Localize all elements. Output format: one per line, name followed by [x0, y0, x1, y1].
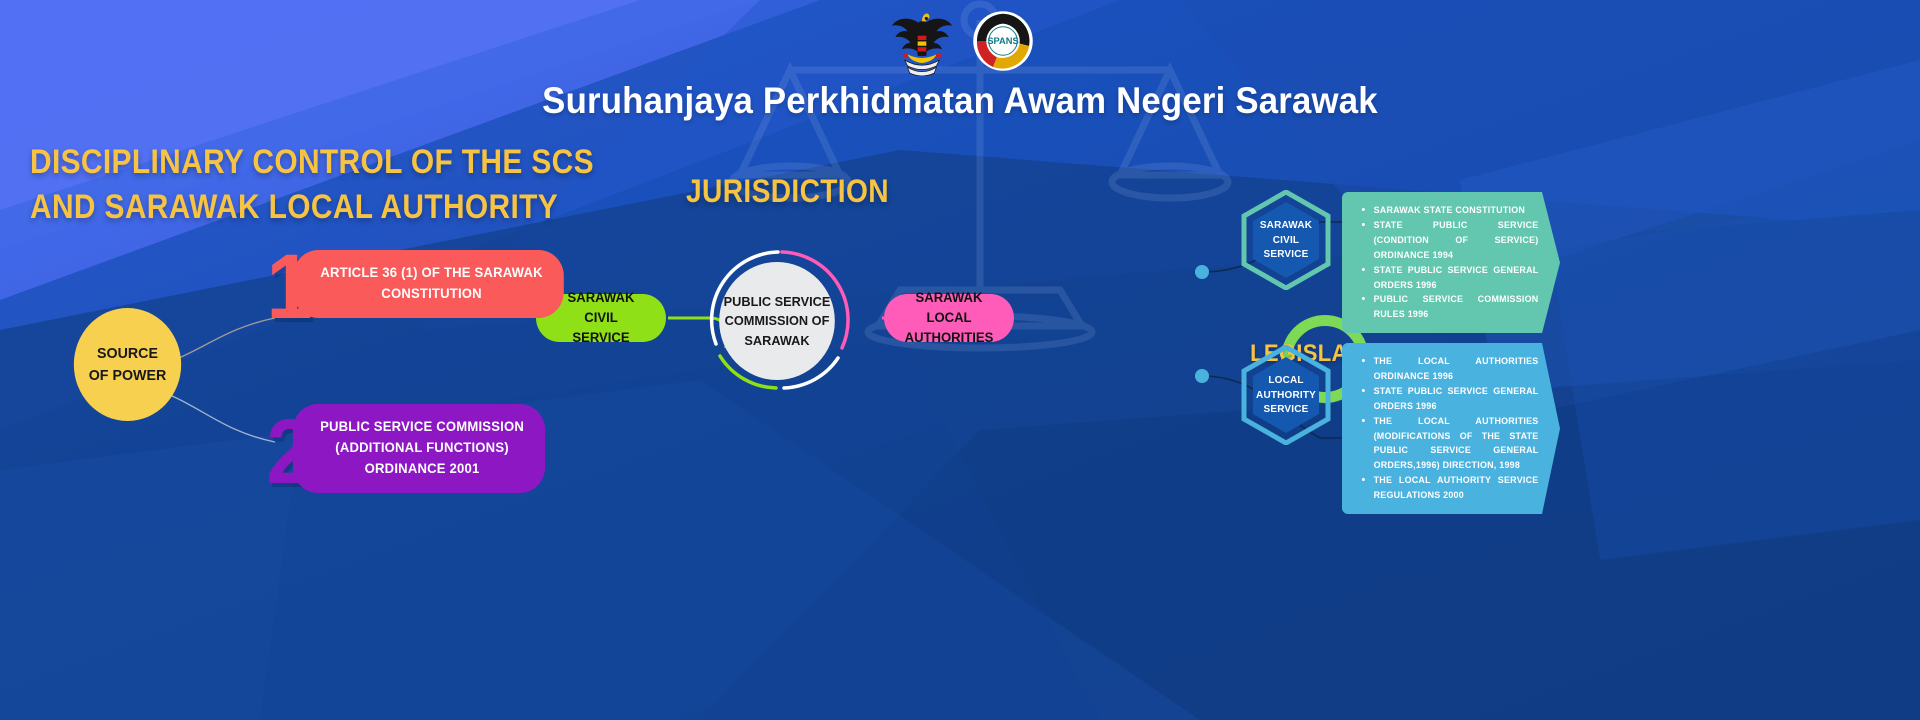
- source-item-1[interactable]: 1 ARTICLE 36 (1) OF THE SARAWAK CONSTITU…: [264, 248, 569, 320]
- legislation-item: STATE PUBLIC SERVICE GENERAL ORDERS 1996: [1360, 263, 1538, 293]
- legislation-hex-label-2: LOCAL AUTHORITY SERVICE: [1242, 345, 1329, 445]
- svg-text:SPANS: SPANS: [987, 36, 1018, 46]
- source-of-power-circle: SOURCE OF POWER: [74, 308, 181, 421]
- source-item-1-label: ARTICLE 36 (1) OF THE SARAWAK CONSTITUTI…: [293, 250, 564, 318]
- legislation-items-2: THE LOCAL AUTHORITIES ORDINANCE 1996 STA…: [1360, 354, 1544, 503]
- legislation-items-1: SARAWAK STATE CONSTITUTION STATE PUBLIC …: [1360, 203, 1544, 322]
- jurisdiction-core-label: PUBLIC SERVICE COMMISSION OF SARAWAK: [719, 262, 835, 380]
- legislation-item: STATE PUBLIC SERVICE (CONDITION OF SERVI…: [1360, 218, 1538, 263]
- legislation-item: THE LOCAL AUTHORITY SERVICE REGULATIONS …: [1360, 473, 1538, 503]
- logo-row: SPANS: [0, 0, 1920, 74]
- left-section-title: DISCIPLINARY CONTROL OF THE SCS AND SARA…: [30, 140, 594, 230]
- source-item-2[interactable]: 2 PUBLIC SERVICE COMMISSION (ADDITIONAL …: [264, 404, 549, 493]
- legislation-item: PUBLIC SERVICE COMMISSION RULES 1996: [1360, 292, 1538, 322]
- legislation-item: THE LOCAL AUTHORITIES (MODIFICATIONS OF …: [1360, 414, 1538, 474]
- legislation-hex-label-1: SARAWAK CIVIL SERVICE: [1242, 190, 1329, 290]
- legislation-hex-local-authority-service[interactable]: LOCAL AUTHORITY SERVICE: [1240, 345, 1332, 445]
- jurisdiction-tag-sarawak-local-authorities[interactable]: SARAWAK LOCAL AUTHORITIES: [884, 294, 1014, 342]
- page-header: SPANS Suruhanjaya Perkhidmatan Awam Nege…: [0, 0, 1920, 122]
- legislation-list-sarawak-civil-service: SARAWAK STATE CONSTITUTION STATE PUBLIC …: [1342, 192, 1560, 333]
- source-item-2-label: PUBLIC SERVICE COMMISSION (ADDITIONAL FU…: [293, 404, 545, 493]
- legislation-item: SARAWAK STATE CONSTITUTION: [1360, 203, 1538, 218]
- sarawak-state-crest-icon: [886, 4, 958, 76]
- spans-logo-icon: SPANS: [972, 10, 1034, 72]
- infographic-canvas: SPANS Suruhanjaya Perkhidmatan Awam Nege…: [0, 0, 1920, 720]
- legislation-list-local-authority-service: THE LOCAL AUTHORITIES ORDINANCE 1996 STA…: [1342, 343, 1560, 514]
- legislation-item: THE LOCAL AUTHORITIES ORDINANCE 1996: [1360, 354, 1538, 384]
- legislation-hex-sarawak-civil-service[interactable]: SARAWAK CIVIL SERVICE: [1240, 190, 1332, 290]
- legislation-item: STATE PUBLIC SERVICE GENERAL ORDERS 1996: [1360, 384, 1538, 414]
- jurisdiction-section-title: JURISDICTION: [686, 170, 889, 212]
- organisation-title: Suruhanjaya Perkhidmatan Awam Negeri Sar…: [58, 80, 1863, 122]
